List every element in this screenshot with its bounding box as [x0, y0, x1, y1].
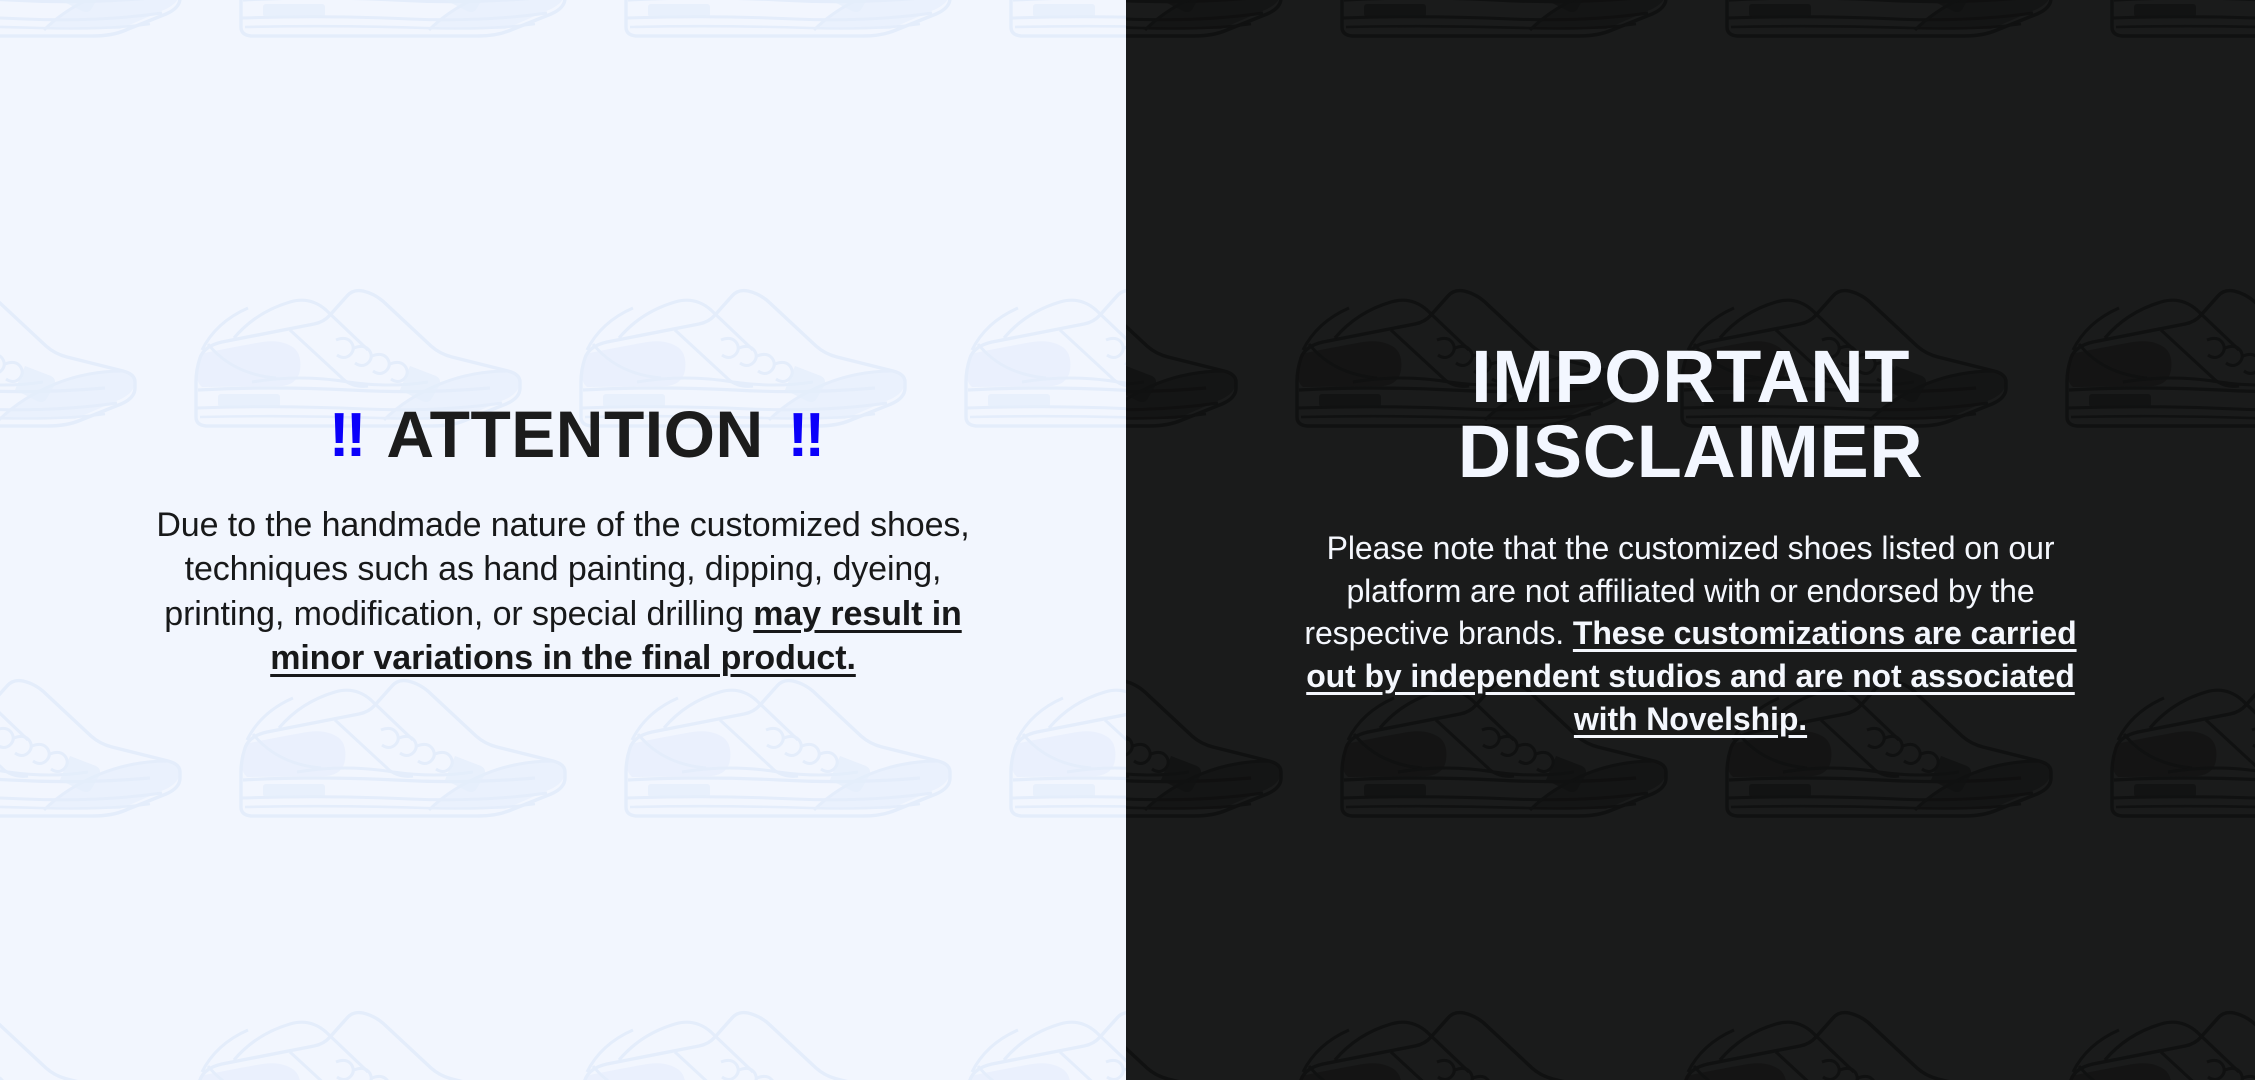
attention-content: ‼ATTENTION‼ Due to the handmade nature o…: [0, 0, 1126, 1080]
disclaimer-content: IMPORTANT DISCLAIMER Please note that th…: [1126, 0, 2255, 1080]
disclaimer-body: Please note that the customized shoes li…: [1276, 527, 2106, 740]
attention-heading-text: ATTENTION: [386, 397, 763, 471]
customization-notice-banner: ‼ATTENTION‼ Due to the handmade nature o…: [0, 0, 2255, 1080]
disclaimer-panel: IMPORTANT DISCLAIMER Please note that th…: [1126, 0, 2255, 1080]
disclaimer-heading: IMPORTANT DISCLAIMER: [1256, 340, 2125, 489]
attention-body: Due to the handmade nature of the custom…: [153, 503, 973, 680]
disclaimer-heading-line2: DISCLAIMER: [1458, 410, 1923, 493]
disclaimer-heading-line1: IMPORTANT: [1471, 335, 1910, 418]
double-exclamation-left-icon: ‼: [329, 401, 362, 470]
double-exclamation-right-icon: ‼: [788, 401, 821, 470]
attention-panel: ‼ATTENTION‼ Due to the handmade nature o…: [0, 0, 1126, 1080]
attention-heading: ‼ATTENTION‼: [162, 400, 988, 469]
